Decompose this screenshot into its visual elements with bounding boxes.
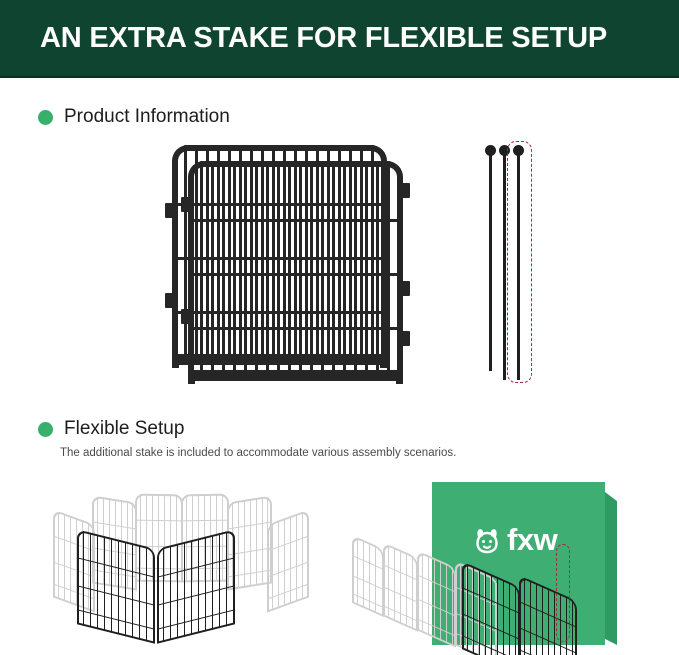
- header-banner: AN EXTRA STAKE FOR FLEXIBLE SETUP: [0, 0, 679, 78]
- wall-fence-panel-ghost: [383, 542, 418, 632]
- fence-foot-rail-front: [188, 374, 403, 381]
- stakes-figure: [485, 145, 535, 385]
- wall-fence-panel-ghost: [352, 535, 384, 617]
- fence-foot-leg: [172, 358, 179, 368]
- stake-shaft-1: [489, 154, 492, 371]
- pen-figure-octagonal-playpen: [45, 487, 310, 650]
- hinge-tab-icon: [181, 309, 189, 324]
- infographic-page: AN EXTRA STAKE FOR FLEXIBLE SETUP Produc…: [0, 0, 679, 655]
- green-wall-side: [605, 492, 617, 645]
- section-title-flexible-setup: Flexible Setup: [64, 418, 184, 440]
- hinge-tab-icon: [402, 281, 410, 296]
- fence-foot-leg: [188, 374, 195, 384]
- fence-frame-front: [188, 161, 403, 376]
- hinge-tab-icon: [165, 203, 173, 218]
- extra-stake-highlight-box: [507, 141, 532, 383]
- section-heading-product-information: Product Information: [38, 106, 230, 128]
- section-title-product-information: Product Information: [64, 106, 230, 128]
- hinge-tab-icon: [181, 197, 189, 212]
- bullet-dot-icon: [38, 422, 53, 437]
- hinge-tab-icon: [402, 331, 410, 346]
- section-subtitle-flexible-setup: The additional stake is included to acco…: [60, 447, 456, 459]
- brand-logo-text: fxw: [507, 524, 557, 555]
- fence-foot-leg: [396, 374, 403, 384]
- pen-panel-highlighted: [77, 529, 155, 643]
- brand-logo: fxw: [474, 524, 557, 555]
- hinge-tab-icon: [165, 293, 173, 308]
- product-figure-fence-panel-pair: [160, 145, 410, 390]
- hinge-tab-icon: [402, 183, 410, 198]
- extra-stake-highlight-box: [556, 544, 570, 642]
- section-heading-flexible-setup: Flexible Setup: [38, 418, 184, 440]
- wall-fence-panel-ghost: [417, 550, 456, 647]
- banner-title: AN EXTRA STAKE FOR FLEXIBLE SETUP: [40, 22, 607, 55]
- stake-shaft-2: [503, 154, 506, 380]
- fence-panel-front: [188, 161, 403, 376]
- pen-panel-highlighted: [157, 529, 235, 643]
- bullet-dot-icon: [38, 110, 53, 125]
- paw-logo-icon: [474, 526, 500, 554]
- wall-figure-fence-against-wall: fxw: [352, 482, 652, 655]
- pen-panel-ghost: [267, 509, 309, 612]
